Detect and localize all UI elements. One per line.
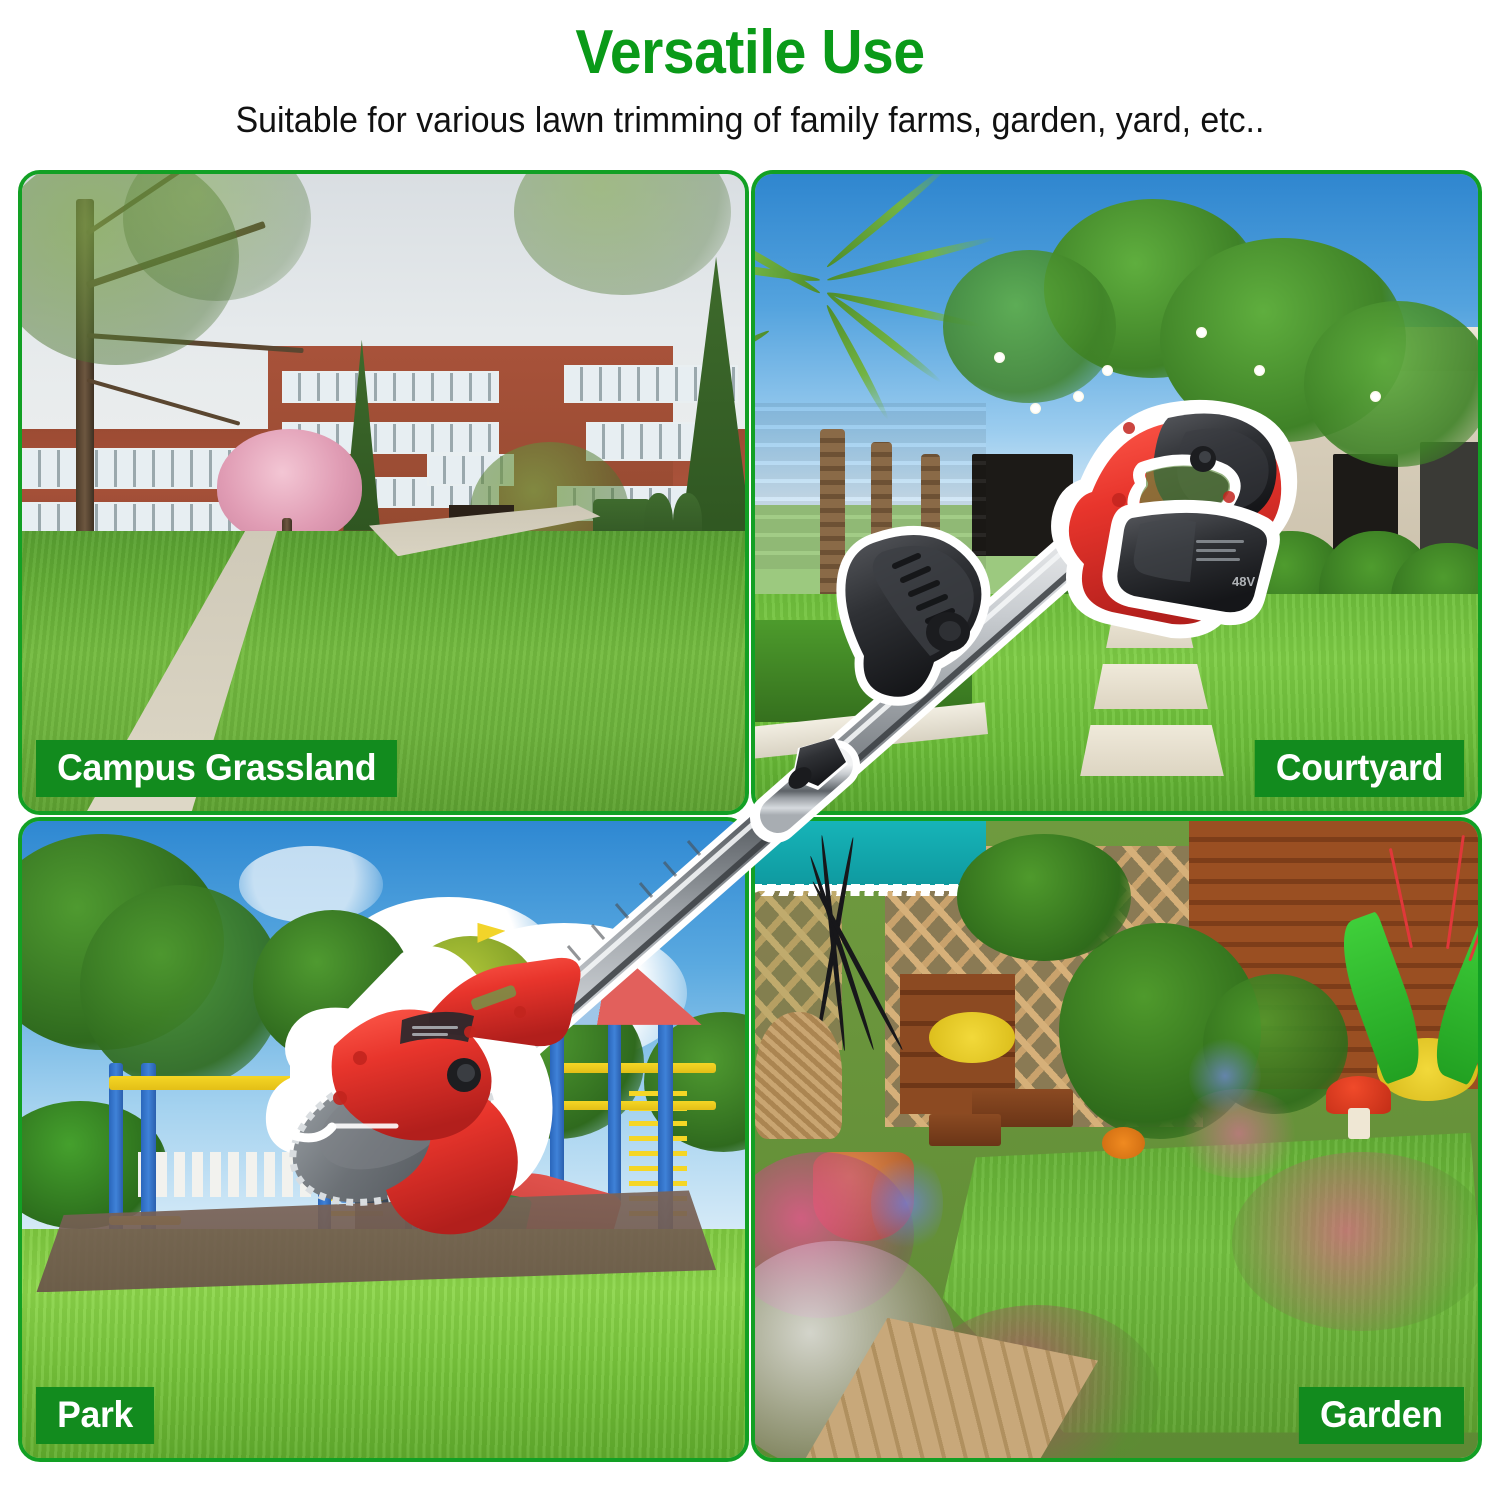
blue-flower-spire — [1189, 1038, 1261, 1114]
panel-campus-grassland[interactable]: Campus Grassland — [18, 170, 749, 815]
tower-post-3 — [608, 1012, 621, 1203]
teal-awning — [755, 821, 986, 891]
page-header: Versatile Use Suitable for various lawn … — [0, 0, 1500, 165]
frangipani-flower — [994, 352, 1005, 363]
scene-park — [22, 821, 745, 1458]
frangipani-canopy-4 — [1304, 301, 1478, 467]
panel-courtyard[interactable]: Courtyard — [751, 170, 1482, 815]
frangipani-flower — [1196, 327, 1207, 338]
frangipani-flower — [1370, 391, 1381, 402]
palm-trunk-2 — [871, 442, 893, 620]
panel-label-park: Park — [36, 1387, 154, 1444]
frame-rail-3 — [557, 1101, 716, 1110]
palm-trunk-1 — [820, 429, 845, 620]
doorway-dark — [972, 454, 1073, 556]
yellow-flower-clump — [929, 1012, 1016, 1063]
flower-bed-right — [1232, 1152, 1478, 1330]
frangipani-flower — [1030, 403, 1041, 414]
scene-courtyard — [755, 174, 1478, 811]
frame-rail-2 — [557, 1063, 716, 1073]
toadstool-stem — [1348, 1108, 1370, 1140]
frangipani-flower — [1254, 365, 1265, 376]
panel-park[interactable]: Park — [18, 817, 749, 1462]
garden-bench-2 — [929, 1114, 1001, 1146]
panel-label-garden: Garden — [1299, 1387, 1464, 1444]
paver — [1073, 725, 1232, 776]
panel-label-campus-grassland: Campus Grassland — [36, 740, 397, 797]
panel-label-courtyard: Courtyard — [1255, 740, 1464, 797]
monkeybar-rail — [109, 1076, 369, 1090]
page-title: Versatile Use — [60, 0, 1440, 84]
page-subtitle: Suitable for various lawn trimming of fa… — [45, 84, 1455, 138]
scene-garden — [755, 821, 1478, 1458]
delphinium-clump — [871, 1152, 943, 1254]
scene-campus-grassland — [22, 174, 745, 811]
orange-garden-ball — [1102, 1127, 1145, 1159]
window-band-3 — [282, 371, 499, 403]
panel-garden[interactable]: Garden — [751, 817, 1482, 1462]
frangipani-flower — [1073, 391, 1084, 402]
scene-grid: Campus Grassland — [18, 170, 1482, 1480]
park-tree-2 — [80, 885, 282, 1089]
cloud-3 — [239, 846, 384, 922]
wicker-basket — [755, 1012, 842, 1139]
garden-bush-2 — [957, 834, 1131, 961]
park-tree-3 — [253, 910, 412, 1063]
frangipani-canopy-3 — [943, 250, 1117, 403]
